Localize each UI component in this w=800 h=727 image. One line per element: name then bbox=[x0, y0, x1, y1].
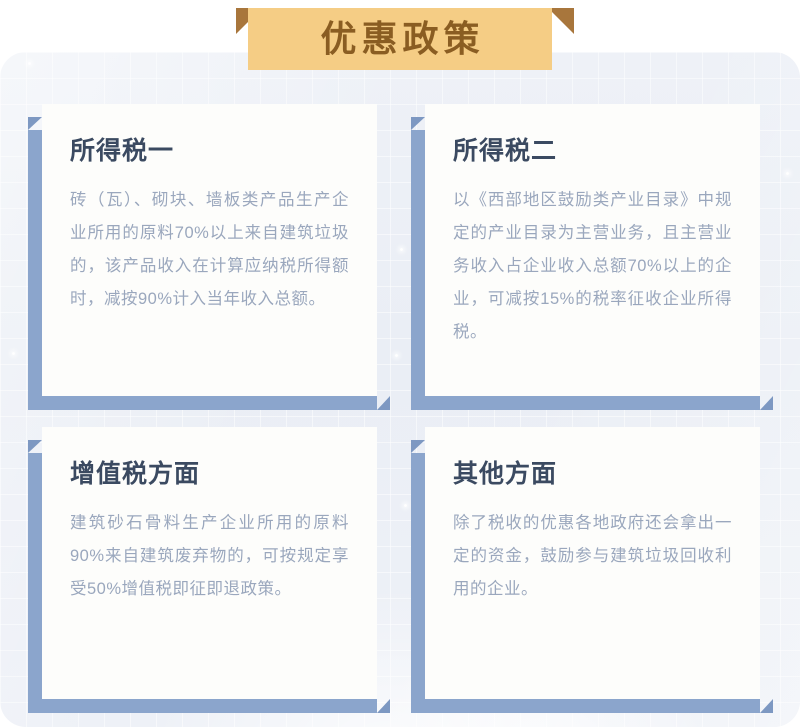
policy-card-other[interactable]: 其他方面 除了税收的优惠各地政府还会拿出一定的资金，鼓励参与建筑垃圾回收利用的企… bbox=[425, 427, 760, 699]
card-shadow-bottom-bar bbox=[411, 699, 760, 713]
card-shadow-left-bar bbox=[411, 453, 425, 713]
card-body: 其他方面 除了税收的优惠各地政府还会拿出一定的资金，鼓励参与建筑垃圾回收利用的企… bbox=[425, 427, 760, 699]
card-title: 所得税一 bbox=[70, 136, 349, 166]
policy-card-vat[interactable]: 增值税方面 建筑砂石骨料生产企业所用的原料90%来自建筑废弃物的，可按规定享受5… bbox=[42, 427, 377, 699]
card-body: 所得税一 砖（瓦）、砌块、墙板类产品生产企业所用的原料70%以上来自建筑垃圾的，… bbox=[42, 104, 377, 396]
policy-card-income-tax-1[interactable]: 所得税一 砖（瓦）、砌块、墙板类产品生产企业所用的原料70%以上来自建筑垃圾的，… bbox=[42, 104, 377, 396]
policy-card-grid: 所得税一 砖（瓦）、砌块、墙板类产品生产企业所用的原料70%以上来自建筑垃圾的，… bbox=[0, 52, 800, 727]
card-text: 砖（瓦）、砌块、墙板类产品生产企业所用的原料70%以上来自建筑垃圾的，该产品收入… bbox=[70, 184, 349, 316]
card-shadow-left-bar bbox=[411, 130, 425, 410]
card-title: 增值税方面 bbox=[70, 459, 349, 489]
card-text: 以《西部地区鼓励类产业目录》中规定的产业目录为主营业务，且主营业务收入占企业收入… bbox=[453, 184, 732, 349]
page-title: 优惠政策 bbox=[315, 21, 484, 57]
card-body: 所得税二 以《西部地区鼓励类产业目录》中规定的产业目录为主营业务，且主营业务收入… bbox=[425, 104, 760, 396]
infographic-root: 优惠政策 所得税一 砖（瓦）、砌块、墙板类产品生产企业所用的原料70%以上来自建… bbox=[0, 0, 800, 727]
card-shadow-left-bar bbox=[28, 130, 42, 410]
card-title: 所得税二 bbox=[453, 136, 732, 166]
card-shadow-left-bar bbox=[28, 453, 42, 713]
ribbon-banner: 优惠政策 bbox=[248, 8, 552, 70]
card-shadow-bottom-bar bbox=[28, 699, 377, 713]
card-body: 增值税方面 建筑砂石骨料生产企业所用的原料90%来自建筑废弃物的，可按规定享受5… bbox=[42, 427, 377, 699]
card-shadow-bottom-bar bbox=[411, 396, 760, 410]
card-text: 除了税收的优惠各地政府还会拿出一定的资金，鼓励参与建筑垃圾回收利用的企业。 bbox=[453, 507, 732, 606]
card-title: 其他方面 bbox=[453, 459, 732, 489]
title-ribbon: 优惠政策 bbox=[0, 0, 800, 78]
card-text: 建筑砂石骨料生产企业所用的原料90%来自建筑废弃物的，可按规定享受50%增值税即… bbox=[70, 507, 349, 606]
card-shadow-bottom-bar bbox=[28, 396, 377, 410]
policy-card-income-tax-2[interactable]: 所得税二 以《西部地区鼓励类产业目录》中规定的产业目录为主营业务，且主营业务收入… bbox=[425, 104, 760, 396]
